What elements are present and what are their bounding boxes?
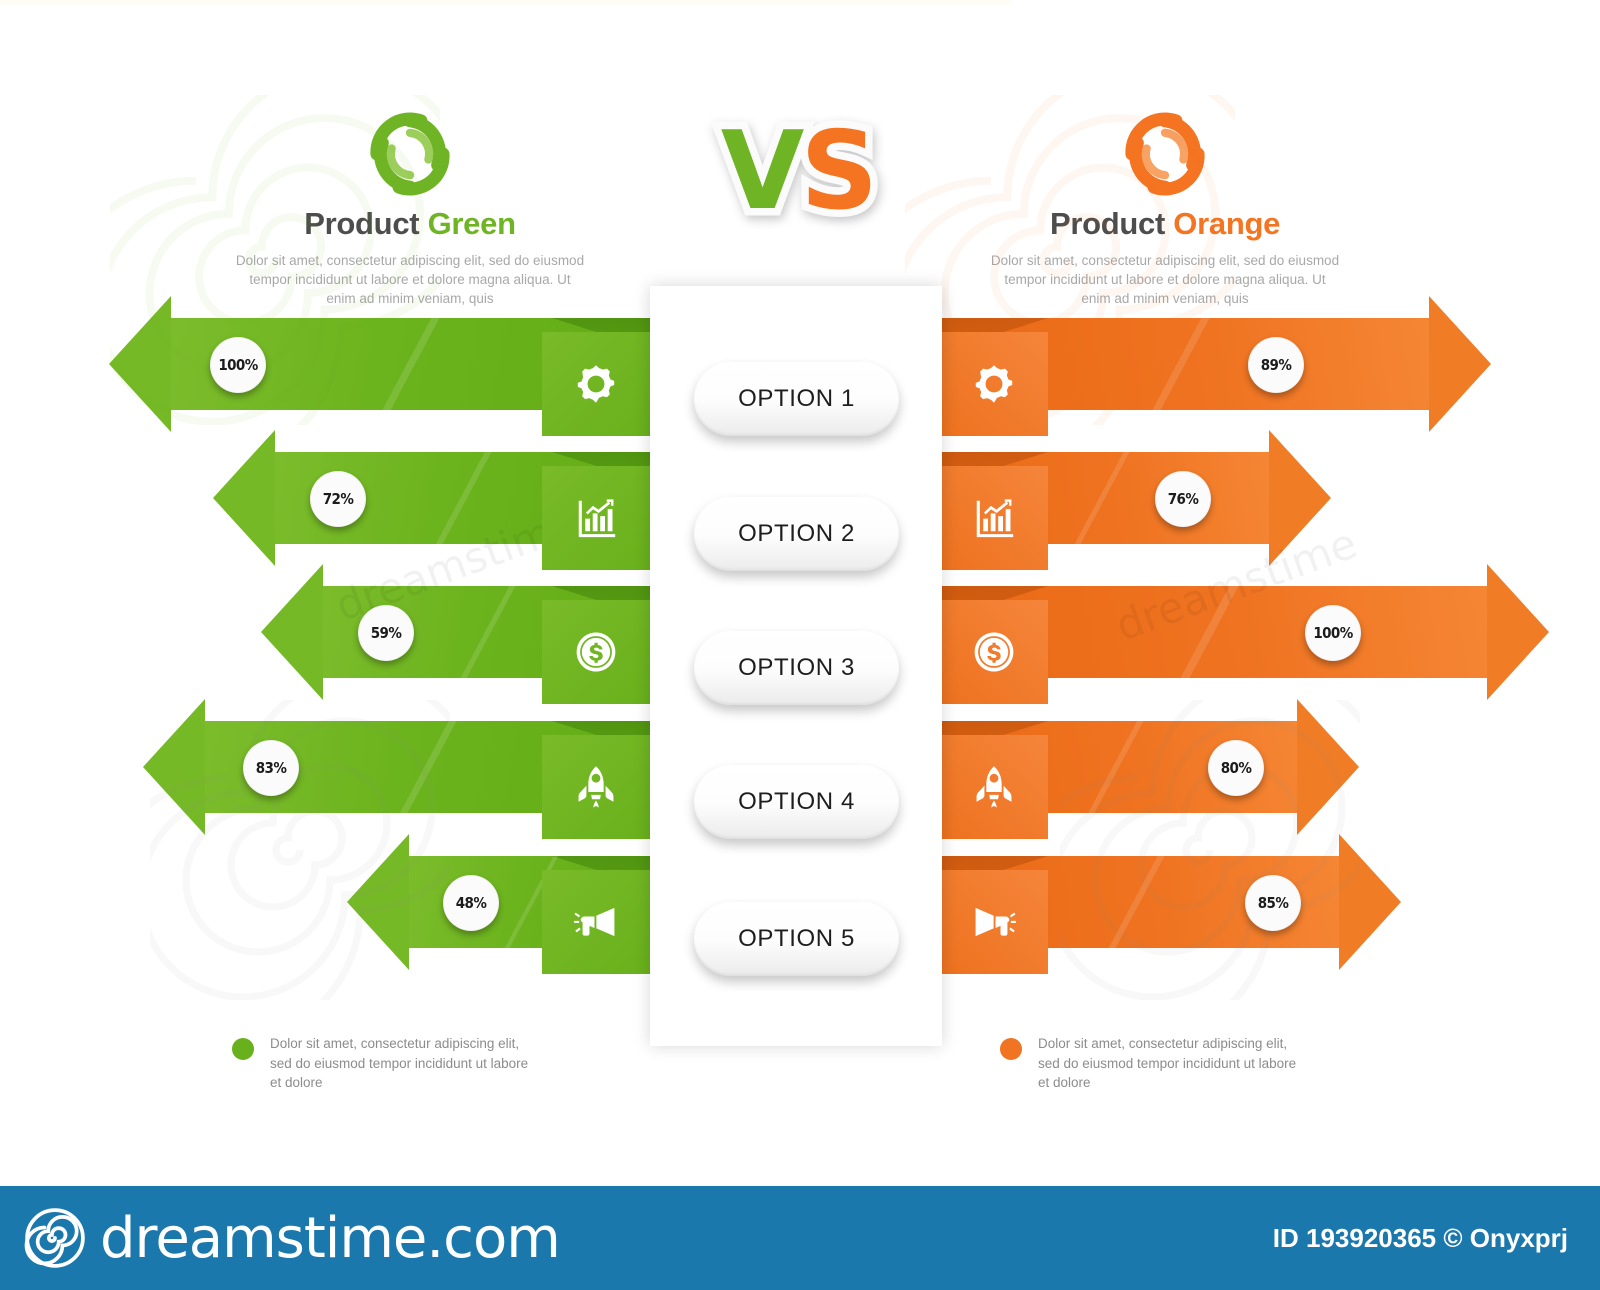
dollar-coin-icon [542, 600, 650, 704]
option-icon-tile-green-1 [542, 332, 650, 436]
left-footer-note: Dolor sit amet, consectetur adipiscing e… [232, 1034, 538, 1093]
option-pill-3[interactable]: OPTION 3 [694, 631, 899, 705]
option-icon-tile-green-3 [542, 600, 650, 704]
option-pill-1[interactable]: OPTION 1 [694, 362, 899, 436]
bar-chart-growth-icon [542, 466, 650, 570]
top-edge-strip [0, 0, 1012, 5]
option-icon-tile-green-2 [542, 466, 650, 570]
gear-icon [542, 332, 650, 436]
option-icon-tile-orange-3 [940, 600, 1048, 704]
vs-badge: VS [690, 112, 905, 237]
megaphone-icon [542, 870, 650, 974]
dreamstime-watermark-bar: dreamstime.com ID 193920365 © Onyxprj [0, 1186, 1600, 1290]
left-product-title: Product Green [210, 206, 610, 242]
orange-percent-2: 76% [1155, 471, 1211, 527]
right-title-accent: Orange [1173, 206, 1280, 241]
option-pill-2[interactable]: OPTION 2 [694, 497, 899, 571]
option-icon-tile-orange-4 [940, 735, 1048, 839]
right-footer-text: Dolor sit amet, consectetur adipiscing e… [1038, 1034, 1306, 1093]
right-product-header: Product Orange Dolor sit amet, consectet… [965, 108, 1365, 308]
bullet-dot-orange-icon [1000, 1038, 1022, 1060]
orange-percent-5: 85% [1245, 875, 1301, 931]
option-pill-label: OPTION 2 [738, 520, 855, 548]
dollar-coin-icon [940, 600, 1048, 704]
dreamstime-brand-name: dreamstime.com [100, 1206, 560, 1271]
right-footer-note: Dolor sit amet, consectetur adipiscing e… [1000, 1034, 1306, 1093]
option-pill-4[interactable]: OPTION 4 [694, 765, 899, 839]
option-icon-tile-green-5 [542, 870, 650, 974]
option-icon-tile-orange-5 [940, 870, 1048, 974]
right-product-title: Product Orange [965, 206, 1365, 242]
green-percent-5: 48% [443, 875, 499, 931]
option-pill-label: OPTION 1 [738, 385, 855, 413]
option-pill-5[interactable]: OPTION 5 [694, 902, 899, 976]
option-icon-tile-orange-2 [940, 466, 1048, 570]
left-title-accent: Green [428, 206, 516, 241]
option-pill-label: OPTION 3 [738, 654, 855, 682]
green-percent-3: 59% [358, 605, 414, 661]
option-pill-label: OPTION 4 [738, 788, 855, 816]
vs-left-letter: V [721, 109, 801, 234]
option-pill-label: OPTION 5 [738, 925, 855, 953]
left-product-header: Product Green Dolor sit amet, consectetu… [210, 108, 610, 308]
megaphone-icon [940, 870, 1048, 974]
dreamstime-image-id: ID 193920365 © Onyxprj [1273, 1223, 1568, 1254]
spiral-swirl-logo-green-icon [364, 108, 456, 200]
dreamstime-logo-icon [24, 1207, 86, 1269]
option-icon-tile-green-4 [542, 735, 650, 839]
bullet-dot-green-icon [232, 1038, 254, 1060]
right-title-main: Product [1050, 206, 1165, 241]
vs-right-letter: S [800, 109, 874, 234]
spiral-swirl-logo-orange-icon [1119, 108, 1211, 200]
bar-chart-growth-icon [940, 466, 1048, 570]
vs-label: VS [690, 112, 905, 237]
green-percent-4: 83% [243, 740, 299, 796]
option-icon-tile-orange-1 [940, 332, 1048, 436]
left-footer-text: Dolor sit amet, consectetur adipiscing e… [270, 1034, 538, 1093]
left-title-main: Product [304, 206, 419, 241]
orange-percent-4: 80% [1208, 740, 1264, 796]
green-percent-1: 100% [210, 337, 266, 393]
green-percent-2: 72% [310, 471, 366, 527]
rocket-dollar-icon [940, 735, 1048, 839]
orange-percent-1: 89% [1248, 337, 1304, 393]
orange-percent-3: 100% [1305, 605, 1361, 661]
infographic-canvas: dreamstime dreamstime Product Green Dol [0, 0, 1600, 1290]
gear-icon [940, 332, 1048, 436]
rocket-dollar-icon [542, 735, 650, 839]
